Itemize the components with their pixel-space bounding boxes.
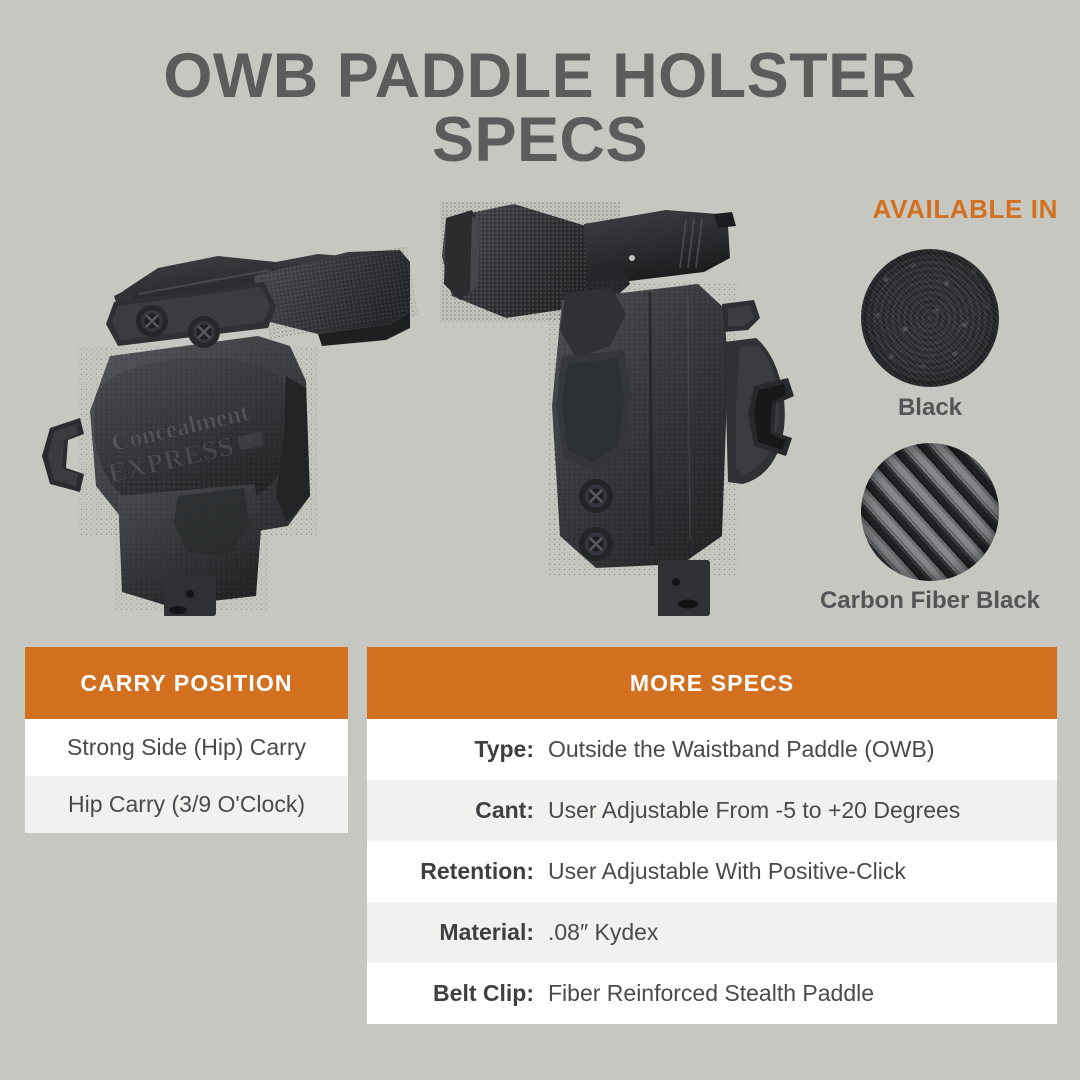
spec-label-cant: Cant: bbox=[367, 797, 539, 824]
table-row: Hip Carry (3/9 O'Clock) bbox=[25, 776, 348, 833]
spec-value-retention: User Adjustable With Positive-Click bbox=[539, 858, 1057, 885]
table-row: Belt Clip: Fiber Reinforced Stealth Padd… bbox=[367, 963, 1057, 1024]
title-line-2: SPECS bbox=[0, 108, 1080, 172]
holster-image-rear bbox=[436, 196, 836, 616]
holster-image-front: Concealment EXPRESS bbox=[18, 196, 438, 616]
table-row: Type: Outside the Waistband Paddle (OWB) bbox=[367, 719, 1057, 780]
spec-value-material: .08″ Kydex bbox=[539, 919, 1057, 946]
spec-value-belt-clip: Fiber Reinforced Stealth Paddle bbox=[539, 980, 1057, 1007]
more-specs-table: MORE SPECS Type: Outside the Waistband P… bbox=[367, 647, 1057, 1024]
available-in-heading: AVAILABLE IN bbox=[873, 194, 1058, 225]
spec-label-type: Type: bbox=[367, 736, 539, 763]
swatch-carbon-fiber-black[interactable] bbox=[861, 443, 999, 581]
spec-label-retention: Retention: bbox=[367, 858, 539, 885]
holster-rear-svg bbox=[436, 196, 836, 616]
table-row: Material: .08″ Kydex bbox=[367, 902, 1057, 963]
swatch-label-black: Black bbox=[840, 394, 1020, 422]
infographic-canvas: OWB PADDLE HOLSTER SPECS bbox=[0, 0, 1080, 1080]
table-row: Retention: User Adjustable With Positive… bbox=[367, 841, 1057, 902]
spec-label-material: Material: bbox=[367, 919, 539, 946]
spec-label-belt-clip: Belt Clip: bbox=[367, 980, 539, 1007]
spec-value-cant: User Adjustable From -5 to +20 Degrees bbox=[539, 797, 1057, 824]
page-title: OWB PADDLE HOLSTER SPECS bbox=[0, 44, 1080, 173]
spec-value-type: Outside the Waistband Paddle (OWB) bbox=[539, 736, 1057, 763]
swatch-label-carbon-fiber-black: Carbon Fiber Black bbox=[785, 587, 1075, 615]
carry-position-table: CARRY POSITION Strong Side (Hip) Carry H… bbox=[25, 647, 348, 833]
table-row: Strong Side (Hip) Carry bbox=[25, 719, 348, 776]
holster-front-svg: Concealment EXPRESS bbox=[18, 196, 438, 616]
title-line-1: OWB PADDLE HOLSTER bbox=[163, 41, 916, 111]
more-specs-header: MORE SPECS bbox=[367, 647, 1057, 719]
swatch-black[interactable] bbox=[861, 249, 999, 387]
carry-position-header: CARRY POSITION bbox=[25, 647, 348, 719]
table-row: Cant: User Adjustable From -5 to +20 Deg… bbox=[367, 780, 1057, 841]
